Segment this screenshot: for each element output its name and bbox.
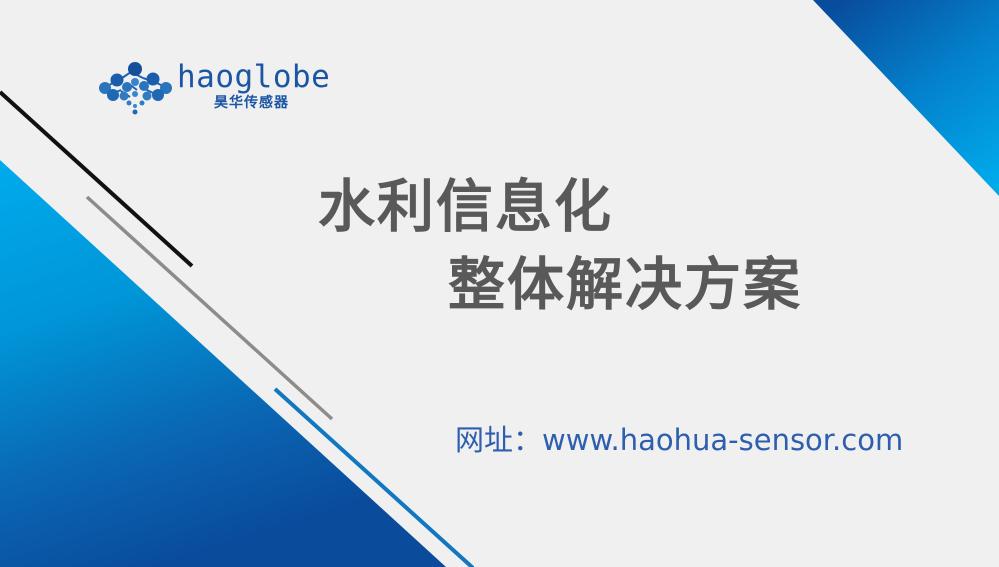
website-label: 网址： bbox=[455, 423, 542, 457]
title-line-1: 水利信息化 bbox=[318, 168, 918, 246]
logo-subtitle-text: 昊华传感器 bbox=[214, 95, 289, 111]
haoglobe-network-dots-icon bbox=[97, 60, 175, 116]
website-line: 网址：www.haohua-sensor.com bbox=[455, 420, 903, 460]
slide-title: 水利信息化 整体解决方案 bbox=[318, 168, 918, 324]
logo-wordmark: haoglobe 昊华传感器 bbox=[177, 58, 312, 118]
logo-wordmark-text: haoglobe bbox=[177, 60, 330, 94]
title-slide: haoglobe 昊华传感器 水利信息化 整体解决方案 网址：www.haohu… bbox=[0, 0, 999, 567]
company-logo: haoglobe 昊华传感器 bbox=[97, 58, 312, 120]
website-url[interactable]: www.haohua-sensor.com bbox=[542, 423, 903, 457]
title-line-2: 整体解决方案 bbox=[318, 246, 918, 324]
